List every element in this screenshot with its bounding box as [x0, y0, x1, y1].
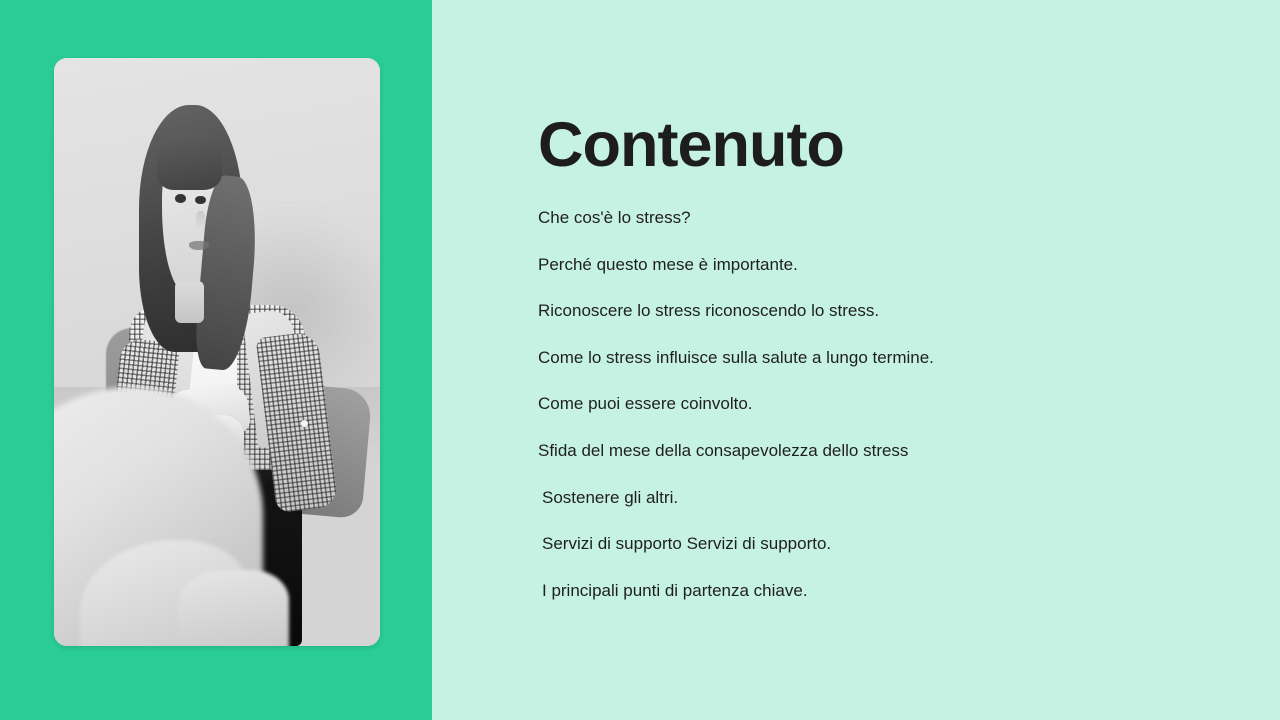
list-item: Come lo stress influisce sulla salute a … — [538, 349, 1178, 396]
list-item: Come puoi essere coinvolto. — [538, 395, 1178, 442]
list-item: Perché questo mese è importante. — [538, 256, 1178, 303]
list-item: Sfida del mese della consapevolezza dell… — [538, 442, 1178, 489]
person-eyebrow-right — [194, 185, 208, 189]
person-eyebrow-left — [173, 184, 187, 188]
person-nose — [196, 211, 204, 229]
person-neck — [175, 281, 204, 322]
foreground-hand — [178, 570, 289, 646]
person-hair-fringe — [157, 132, 222, 191]
left-accent-panel — [0, 0, 432, 720]
person-eye-left — [175, 194, 186, 202]
person-mouth — [189, 241, 209, 250]
list-item: Che cos'è lo stress? — [538, 209, 1178, 256]
blazer-button — [301, 420, 308, 427]
list-item: Riconoscere lo stress riconoscendo lo st… — [538, 302, 1178, 349]
speaker-photo-image — [54, 58, 380, 646]
list-item: I principali punti di partenza chiave. — [538, 582, 1178, 629]
slide-root: Contenuto Che cos'è lo stress? Perché qu… — [0, 0, 1280, 720]
person-eye-right — [195, 196, 205, 204]
content-panel: Contenuto Che cos'è lo stress? Perché qu… — [432, 0, 1280, 720]
content-bullet-list: Che cos'è lo stress? Perché questo mese … — [538, 209, 1178, 628]
speaker-photo-card — [54, 58, 380, 646]
page-title: Contenuto — [538, 112, 844, 178]
list-item: Sostenere gli altri. — [538, 489, 1178, 536]
list-item: Servizi di supporto Servizi di supporto. — [538, 535, 1178, 582]
